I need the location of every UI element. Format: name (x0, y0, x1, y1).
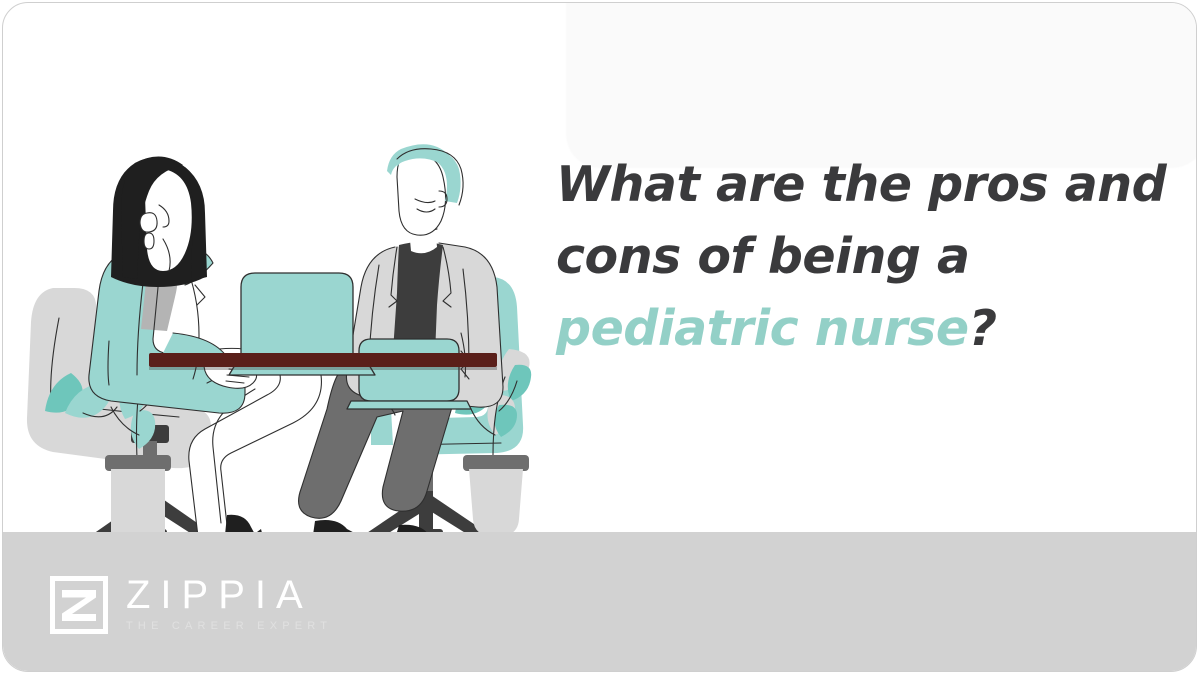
zippia-logo[interactable]: ZIPPIA THE CAREER EXPERT (50, 575, 332, 634)
zippia-tagline: THE CAREER EXPERT (126, 618, 332, 634)
headline-question-mark: ? (969, 300, 997, 357)
headline-accent-term: pediatric nurse (556, 300, 969, 357)
illustration-two-colleagues-at-desk: .ol{fill:none;stroke:#2f2f2f;stroke-widt… (23, 143, 563, 563)
headline-line-2: cons of being a (556, 221, 1156, 293)
zippia-z-mark-icon (50, 576, 108, 634)
decorative-rounded-panel (566, 2, 1197, 168)
desk (149, 353, 497, 370)
headline-line-3: pediatric nurse? (556, 293, 1156, 365)
zippia-wordmark-block: ZIPPIA THE CAREER EXPERT (126, 575, 332, 634)
content-card: .ol{fill:none;stroke:#2f2f2f;stroke-widt… (2, 2, 1197, 672)
slide-canvas: .ol{fill:none;stroke:#2f2f2f;stroke-widt… (0, 0, 1201, 676)
headline-line-1: What are the pros and (556, 149, 1156, 221)
zippia-wordmark: ZIPPIA (126, 575, 332, 615)
page-title: What are the pros and cons of being a pe… (556, 149, 1156, 365)
